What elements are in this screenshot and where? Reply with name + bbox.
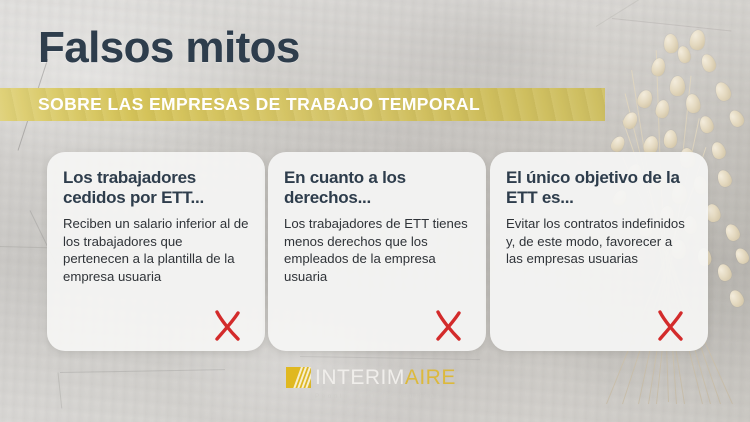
brand-tagline: People_Fruits_Solutions [315, 393, 476, 400]
myth-card-body: Evitar los contratos indefinidos y, de e… [506, 215, 692, 268]
brand-logo-row: INTERIMAIRE [286, 366, 476, 388]
myth-card: El único objetivo de la ETT es... Evitar… [490, 152, 708, 351]
myth-card-title: Los trabajadores cedidos por ETT... [63, 168, 249, 208]
slide-canvas: Falsos mitos SOBRE LAS EMPRESAS DE TRABA… [0, 0, 750, 422]
brand-name-accent: AIRE [405, 366, 456, 389]
brand-logo: INTERIMAIRE People_Fruits_Solutions [286, 366, 476, 406]
subtitle-banner: SOBRE LAS EMPRESAS DE TRABAJO TEMPORAL [0, 88, 605, 121]
myth-card-title: El único objetivo de la ETT es... [506, 168, 692, 208]
brand-logo-wordmark: INTERIMAIRE [315, 367, 456, 388]
myth-card: Los trabajadores cedidos por ETT... Reci… [47, 152, 265, 351]
subtitle-text: SOBRE LAS EMPRESAS DE TRABAJO TEMPORAL [38, 94, 480, 115]
x-mark-icon [654, 307, 688, 343]
myth-card-title: En cuanto a los derechos... [284, 168, 470, 208]
logo-mark-icon [286, 367, 311, 388]
myth-card-body: Los trabajadores de ETT tienes menos der… [284, 215, 470, 285]
myth-card-body: Reciben un salario inferior al de los tr… [63, 215, 249, 285]
page-title: Falsos mitos [38, 26, 300, 70]
brand-name-primary: INTERIM [315, 366, 405, 389]
x-mark-icon [211, 307, 245, 343]
myth-card: En cuanto a los derechos... Los trabajad… [268, 152, 486, 351]
x-mark-icon [432, 307, 466, 343]
